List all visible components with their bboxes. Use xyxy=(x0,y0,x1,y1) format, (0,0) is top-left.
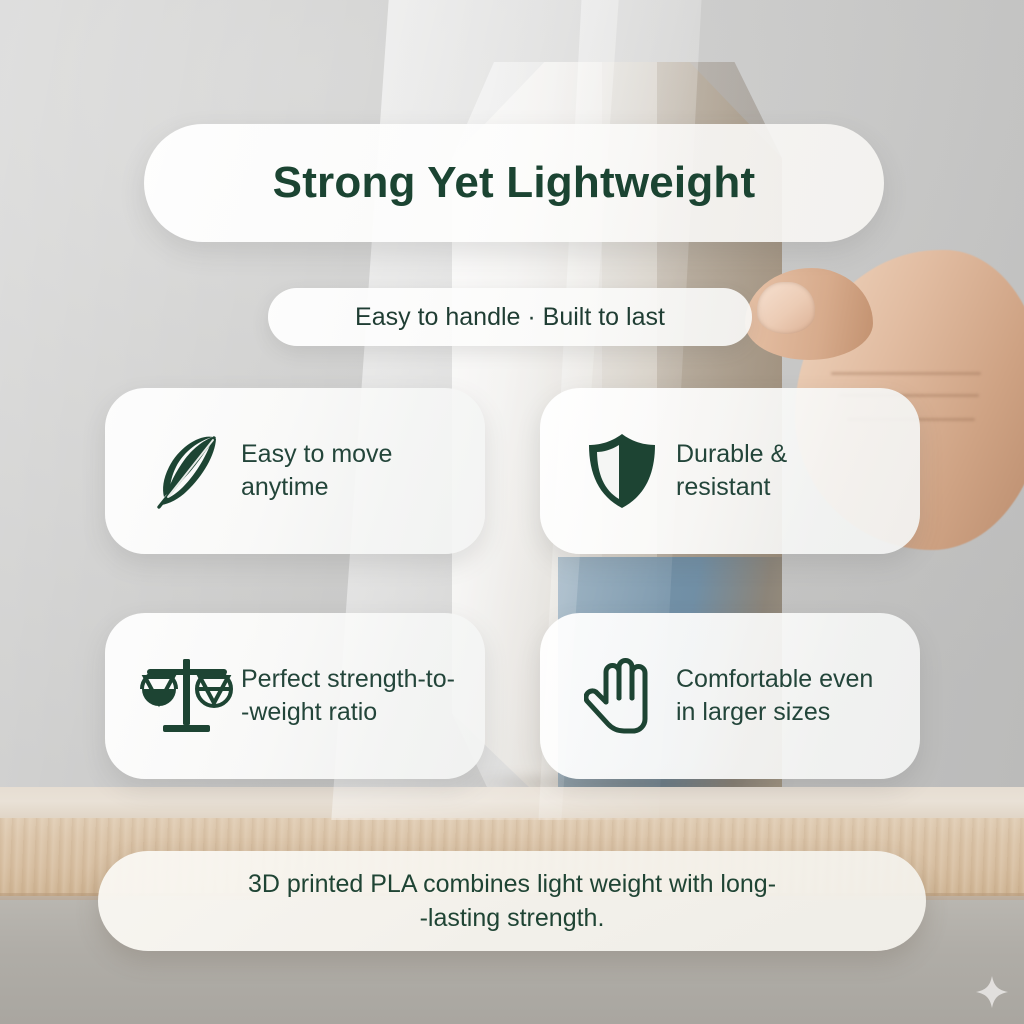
feature-label-line2: in larger sizes xyxy=(676,698,830,726)
page-title: Strong Yet Lightweight xyxy=(273,161,756,205)
feature-card-strength-to-weight[interactable]: Perfect strength-to- -weight ratio xyxy=(105,613,485,779)
subtitle-pill: Easy to handle · Built to last xyxy=(268,288,752,346)
footer-pill: 3D printed PLA combines light weight wit… xyxy=(98,851,926,951)
thumbnail xyxy=(757,282,815,334)
feature-label: Durable & resistant xyxy=(676,438,787,504)
feature-label-line1: Comfortable even xyxy=(676,665,873,693)
feature-card-durable[interactable]: Durable & resistant xyxy=(540,388,920,554)
feature-label-line2: resistant xyxy=(676,473,770,501)
footer-line1: 3D printed PLA combines light weight wit… xyxy=(248,870,776,898)
feature-label-line2: -weight ratio xyxy=(241,698,377,726)
feature-label: Perfect strength-to- -weight ratio xyxy=(241,663,455,729)
footer-line2: -lasting strength. xyxy=(420,904,605,932)
shield-icon xyxy=(574,430,670,512)
page-subtitle: Easy to handle · Built to last xyxy=(355,305,665,330)
knuckle-crease xyxy=(831,372,981,375)
sparkle-icon xyxy=(975,975,1009,1009)
feature-label: Easy to move anytime xyxy=(241,438,392,504)
feature-label-line1: Durable & xyxy=(676,440,787,468)
feature-card-easy-to-move[interactable]: Easy to move anytime xyxy=(105,388,485,554)
feature-label-line1: Perfect strength-to- xyxy=(241,665,455,693)
feature-card-comfortable[interactable]: Comfortable even in larger sizes xyxy=(540,613,920,779)
feature-label: Comfortable even in larger sizes xyxy=(676,663,873,729)
promo-graphic: Strong Yet Lightweight Easy to handle · … xyxy=(0,0,1024,1024)
hand-icon xyxy=(574,656,670,736)
footer-text: 3D printed PLA combines light weight wit… xyxy=(162,867,862,936)
scale-icon xyxy=(139,657,235,735)
feature-label-line1: Easy to move xyxy=(241,440,392,468)
feature-label-line2: anytime xyxy=(241,473,329,501)
feather-icon xyxy=(139,431,235,511)
title-pill: Strong Yet Lightweight xyxy=(144,124,884,242)
